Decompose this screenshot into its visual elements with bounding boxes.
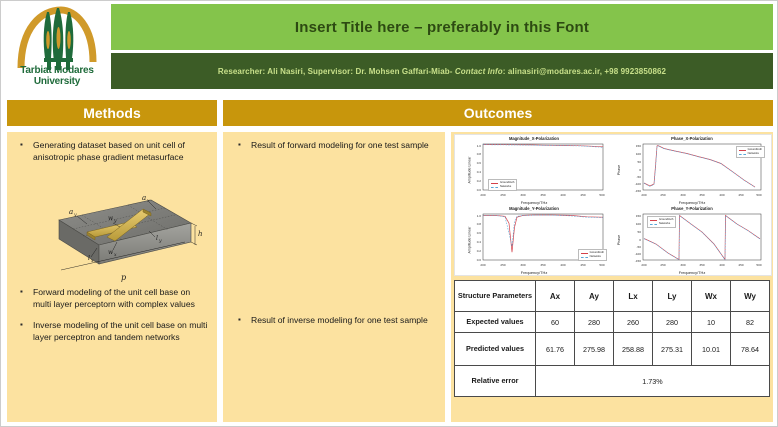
svg-text:100: 100: [636, 152, 641, 156]
svg-text:500: 500: [599, 263, 604, 267]
outcomes-bullets-inverse: Result of inverse modeling for one test …: [233, 315, 438, 337]
svg-text:500: 500: [599, 193, 604, 197]
svg-text:0.6: 0.6: [477, 231, 482, 235]
chart-magnitude-x-polarization: Magnitude_X-Polarization Amplitude Linea…: [455, 135, 613, 205]
list-item: Generating dataset based on unit cell of…: [15, 140, 209, 163]
legend-swatch-groundtruth: [581, 253, 588, 254]
row-label-expected-values: Expected values: [455, 312, 536, 333]
svg-text:-150: -150: [635, 259, 641, 263]
svg-text:0.4: 0.4: [477, 170, 482, 174]
metasurface-unit-cell-diagram: ay ax wy wx lx ly h p: [25, 190, 205, 282]
expected-wy: 82: [731, 312, 770, 333]
column-header-wx: Wx: [692, 281, 731, 312]
svg-text:-50: -50: [637, 245, 642, 249]
svg-text:350: 350: [540, 263, 545, 267]
svg-text:-150: -150: [635, 189, 641, 193]
svg-text:300: 300: [520, 263, 525, 267]
svg-text:150: 150: [636, 144, 641, 148]
svg-text:0.8: 0.8: [477, 152, 482, 156]
table-row-expected: Expected values 60 280 260 280 10 82: [455, 312, 770, 333]
svg-text:200: 200: [480, 193, 485, 197]
svg-text:100: 100: [636, 222, 641, 226]
label-p: p: [121, 273, 126, 282]
svg-text:0.0: 0.0: [477, 188, 482, 192]
svg-text:0.8: 0.8: [477, 222, 482, 226]
list-item: Result of inverse modeling for one test …: [233, 315, 438, 327]
label-ay: a: [69, 208, 73, 216]
label-ax: a: [142, 194, 146, 202]
label-lx: l: [88, 255, 90, 262]
column-header-lx: Lx: [614, 281, 653, 312]
svg-text:250: 250: [660, 193, 665, 197]
svg-text:200: 200: [641, 193, 646, 197]
predicted-ax: 61.76: [536, 333, 575, 366]
expected-ay: 280: [575, 312, 614, 333]
poster-canvas: Tarbiat Modares University Insert Title …: [0, 0, 778, 427]
methods-panel: Generating dataset based on unit cell of…: [7, 132, 217, 422]
svg-text:450: 450: [738, 263, 743, 267]
svg-text:500: 500: [756, 263, 761, 267]
methods-bullets-top: Generating dataset based on unit cell of…: [15, 140, 209, 173]
svg-text:350: 350: [540, 193, 545, 197]
svg-text:450: 450: [580, 193, 585, 197]
label-ly: l: [156, 235, 158, 242]
outcomes-figures-panel: Magnitude_X-Polarization Amplitude Linea…: [451, 132, 773, 422]
svg-text:0.2: 0.2: [477, 249, 482, 253]
predicted-ay: 275.98: [575, 333, 614, 366]
chart-legend: Groundtruth Networks: [647, 216, 676, 228]
university-logo: Tarbiat Modares University: [7, 4, 107, 96]
contact-info-label: Contact Info: [455, 67, 503, 76]
methods-bullets-bottom: Forward modeling of the unit cell base o…: [15, 287, 209, 353]
results-table: Structure Parameters Ax Ay Lx Ly Wx Wy E…: [454, 280, 770, 397]
svg-text:0.4: 0.4: [477, 240, 482, 244]
chart-phase-y-polarization: Phase_Y-Polarization Phase Frequency/THz…: [613, 205, 771, 275]
author-names: Researcher: Ali Nasiri, Supervisor: Dr. …: [218, 67, 455, 76]
svg-text:0.2: 0.2: [477, 179, 482, 183]
svg-text:0.0: 0.0: [477, 258, 482, 262]
row-label-predicted-values: Predicted values: [455, 333, 536, 366]
svg-text:1.0: 1.0: [477, 214, 482, 218]
svg-text:-50: -50: [637, 175, 642, 179]
tulip-cypress-logo-icon: [7, 4, 107, 74]
svg-text:y: y: [158, 239, 162, 244]
svg-text:y: y: [73, 213, 77, 218]
svg-text:-100: -100: [635, 252, 641, 256]
chart-legend: Groundtruth Networks: [578, 249, 607, 261]
author-contact-text: Researcher: Ali Nasiri, Supervisor: Dr. …: [218, 67, 666, 76]
expected-wx: 10: [692, 312, 731, 333]
svg-text:0: 0: [639, 168, 641, 172]
legend-swatch-networks: [739, 154, 746, 155]
outcomes-text-panel: Result of forward modeling for one test …: [223, 132, 445, 422]
svg-text:350: 350: [699, 193, 704, 197]
legend-swatch-groundtruth: [491, 183, 498, 184]
svg-text:450: 450: [580, 263, 585, 267]
row-label-structure-parameters: Structure Parameters: [455, 281, 536, 312]
column-header-ly: Ly: [653, 281, 692, 312]
svg-text:200: 200: [480, 263, 485, 267]
svg-text:150: 150: [636, 214, 641, 218]
list-item: Inverse modeling of the unit cell base o…: [15, 320, 209, 343]
legend-swatch-networks: [650, 224, 657, 225]
expected-ly: 280: [653, 312, 692, 333]
predicted-wy: 78.64: [731, 333, 770, 366]
contact-info-value: : alinasiri@modares.ac.ir, +98 992385086…: [503, 67, 666, 76]
table-row-parameters: Structure Parameters Ax Ay Lx Ly Wx Wy: [455, 281, 770, 312]
legend-label-networks: Networks: [659, 222, 670, 226]
row-label-relative-error: Relative error: [455, 366, 536, 397]
svg-text:200: 200: [641, 263, 646, 267]
predicted-wx: 10.01: [692, 333, 731, 366]
outcomes-bullets-forward: Result of forward modeling for one test …: [233, 140, 433, 162]
svg-text:50: 50: [638, 230, 642, 234]
table-row-relative-error: Relative error 1.73%: [455, 366, 770, 397]
legend-swatch-groundtruth: [739, 150, 746, 151]
list-item: Forward modeling of the unit cell base o…: [15, 287, 209, 310]
svg-text:0: 0: [639, 238, 641, 242]
svg-text:400: 400: [719, 263, 724, 267]
legend-label-networks: Networks: [748, 152, 759, 156]
svg-text:400: 400: [719, 193, 724, 197]
svg-text:1.0: 1.0: [477, 144, 482, 148]
expected-ax: 60: [536, 312, 575, 333]
section-header-outcomes: Outcomes: [223, 100, 773, 126]
column-header-wy: Wy: [731, 281, 770, 312]
svg-text:300: 300: [680, 193, 685, 197]
svg-text:0.6: 0.6: [477, 161, 482, 165]
chart-legend: Groundtruth Networks: [736, 146, 765, 158]
predicted-lx: 258.88: [614, 333, 653, 366]
label-h: h: [198, 230, 203, 238]
relative-error-value: 1.73%: [536, 366, 770, 397]
svg-text:50: 50: [638, 160, 642, 164]
svg-text:400: 400: [560, 193, 565, 197]
methods-title: Methods: [83, 105, 141, 121]
section-header-methods: Methods: [7, 100, 217, 126]
legend-swatch-groundtruth: [650, 220, 657, 221]
svg-text:300: 300: [520, 193, 525, 197]
logo-line-1: Tarbiat Modares: [7, 66, 107, 77]
legend-swatch-networks: [491, 187, 498, 188]
legend-label-networks: Networks: [500, 185, 511, 189]
chart-phase-x-polarization: Phase_X-Polarization Phase Frequency/THz…: [613, 135, 771, 205]
logo-wordmark: Tarbiat Modares University: [7, 66, 107, 87]
svg-text:250: 250: [500, 193, 505, 197]
table-row-predicted: Predicted values 61.76 275.98 258.88 275…: [455, 333, 770, 366]
author-contact-bar: Researcher: Ali Nasiri, Supervisor: Dr. …: [111, 53, 773, 89]
chart-magnitude-y-polarization: Magnitude_Y-Polarization Amplitude Linea…: [455, 205, 613, 275]
svg-text:400: 400: [560, 263, 565, 267]
column-header-ax: Ax: [536, 281, 575, 312]
legend-label-networks: Networks: [590, 255, 601, 259]
expected-lx: 260: [614, 312, 653, 333]
predicted-ly: 275.31: [653, 333, 692, 366]
chart-legend: Groundtruth Networks: [488, 179, 517, 191]
outcomes-title: Outcomes: [464, 105, 532, 121]
svg-text:300: 300: [680, 263, 685, 267]
list-item: Result of forward modeling for one test …: [233, 140, 433, 152]
poster-title: Insert Title here – preferably in this F…: [295, 19, 589, 36]
svg-text:350: 350: [699, 263, 704, 267]
svg-text:250: 250: [660, 263, 665, 267]
logo-line-2: University: [7, 77, 107, 88]
svg-text:450: 450: [738, 193, 743, 197]
svg-text:250: 250: [500, 263, 505, 267]
svg-text:500: 500: [756, 193, 761, 197]
legend-swatch-networks: [581, 257, 588, 258]
svg-text:-100: -100: [635, 182, 641, 186]
poster-title-bar: Insert Title here – preferably in this F…: [111, 4, 773, 50]
column-header-ay: Ay: [575, 281, 614, 312]
results-charts-group: Magnitude_X-Polarization Amplitude Linea…: [454, 134, 772, 276]
